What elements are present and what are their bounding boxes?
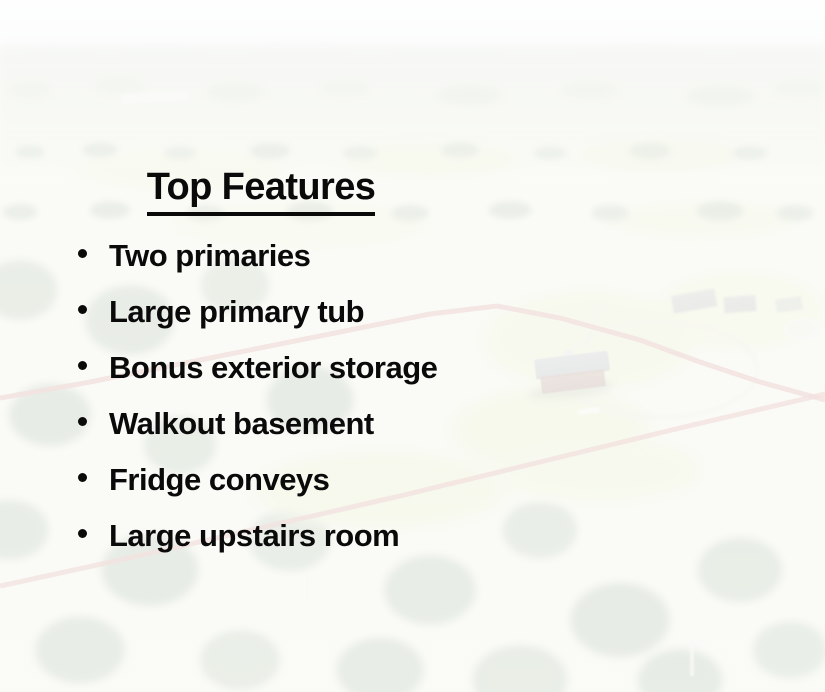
feature-label: Large primary tub [109, 284, 364, 340]
feature-label: Two primaries [109, 228, 310, 284]
feature-list: Two primaries Large primary tub Bonus ex… [78, 228, 437, 564]
list-item: Bonus exterior storage [78, 340, 437, 396]
list-item: Fridge conveys [78, 452, 437, 508]
feature-label: Fridge conveys [109, 452, 329, 508]
bullet-dot-icon [78, 249, 87, 258]
bullet-dot-icon [78, 305, 87, 314]
page-title-underline [147, 212, 375, 216]
feature-poster: Top Features Two primaries Large primary… [0, 0, 825, 692]
list-item: Two primaries [78, 228, 437, 284]
bullet-dot-icon [78, 417, 87, 426]
page-title: Top Features [0, 166, 522, 216]
poster-content: Top Features Two primaries Large primary… [0, 0, 825, 692]
feature-label: Bonus exterior storage [109, 340, 437, 396]
bullet-dot-icon [78, 529, 87, 538]
list-item: Large upstairs room [78, 508, 437, 564]
list-item: Large primary tub [78, 284, 437, 340]
bullet-dot-icon [78, 473, 87, 482]
feature-label: Large upstairs room [109, 508, 399, 564]
list-item: Walkout basement [78, 396, 437, 452]
bullet-dot-icon [78, 361, 87, 370]
page-title-text: Top Features [147, 166, 376, 209]
feature-label: Walkout basement [109, 396, 374, 452]
